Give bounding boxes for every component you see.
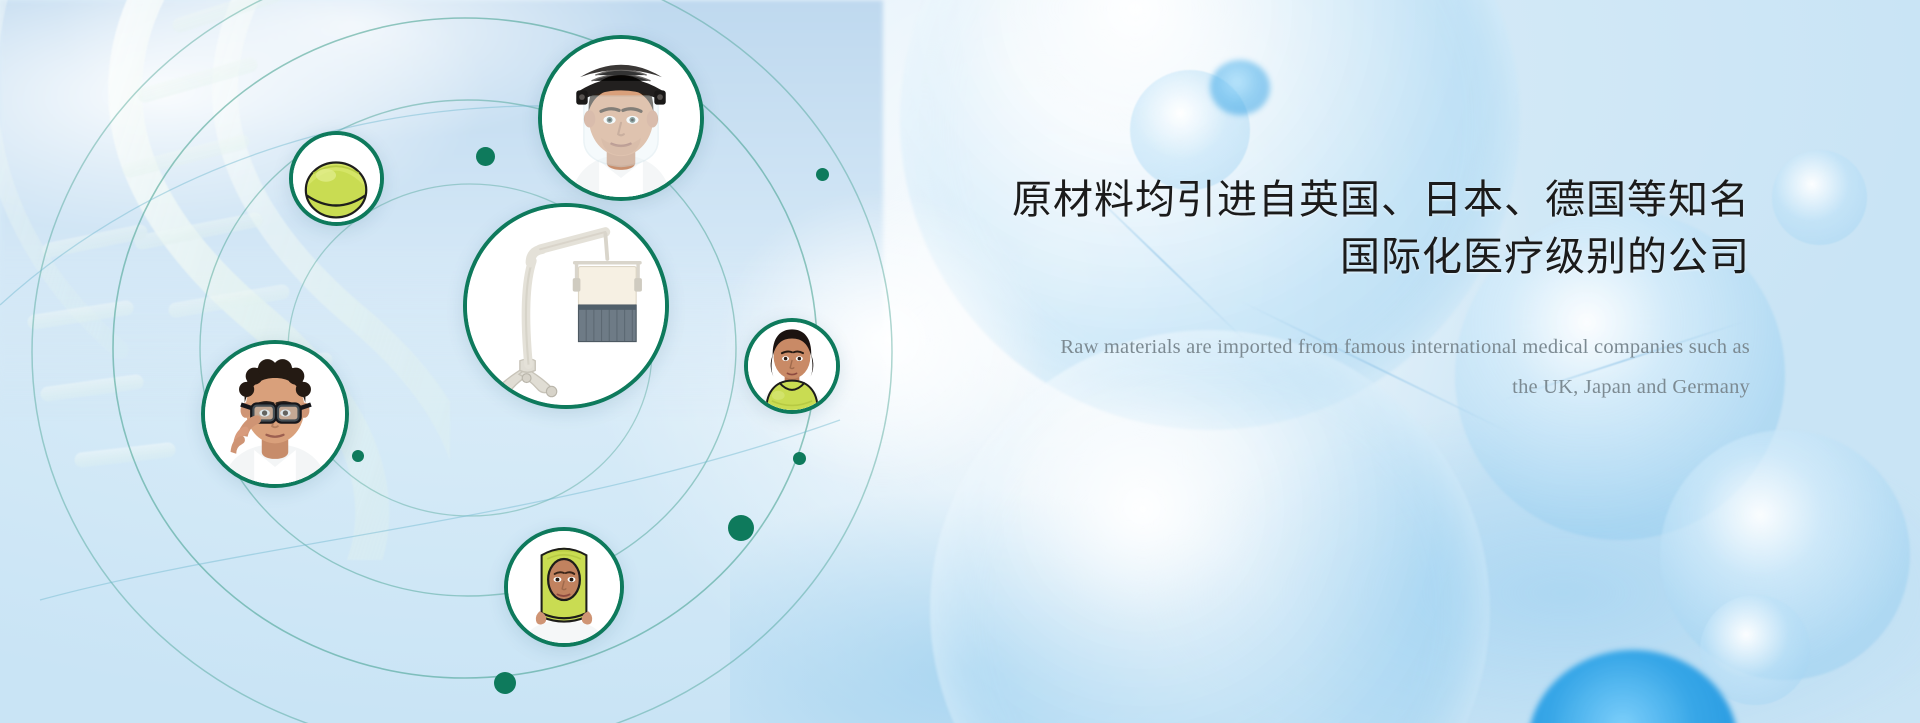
- mobile-shield-photo: [467, 207, 665, 405]
- page-title: 原材料均引进自英国、日本、德国等知名 国际化医疗级别的公司: [950, 172, 1750, 286]
- face-shield-photo: [542, 39, 700, 197]
- orbit-node-dot: [793, 452, 806, 465]
- bubble-lead-glasses[interactable]: [201, 340, 349, 488]
- thyroid-collar-photo: [748, 322, 836, 410]
- hero-subtitle: Raw materials are imported from famous i…: [950, 328, 1750, 408]
- orbit-node-dot: [816, 168, 829, 181]
- hero-banner: 原材料均引进自英国、日本、德国等知名 国际化医疗级别的公司 Raw materi…: [0, 0, 1920, 723]
- bubble-mobile-shield[interactable]: [463, 203, 669, 409]
- subtitle-line-2: the UK, Japan and Germany: [950, 368, 1750, 408]
- bubble-face-shield[interactable]: [538, 35, 704, 201]
- protective-cap-photo: [293, 135, 380, 222]
- orbit-node-dot: [352, 450, 364, 462]
- bubble-protective-cap[interactable]: [289, 131, 384, 226]
- subtitle-line-1: Raw materials are imported from famous i…: [950, 328, 1750, 368]
- protective-hood-photo: [508, 531, 620, 643]
- bubble-thyroid-collar[interactable]: [744, 318, 840, 414]
- orbit-node-dot: [476, 147, 495, 166]
- hero-copy: 原材料均引进自英国、日本、德国等知名 国际化医疗级别的公司 Raw materi…: [950, 172, 1750, 408]
- molecule-sphere-deep-blue: [1210, 60, 1270, 115]
- lead-glasses-photo: [205, 344, 345, 484]
- bubble-protective-hood[interactable]: [504, 527, 624, 647]
- headline-line-1: 原材料均引进自英国、日本、德国等知名: [1012, 178, 1750, 222]
- orbit-node-dot: [728, 515, 754, 541]
- orbit-node-dot: [494, 672, 516, 694]
- molecule-sphere-small: [1772, 150, 1867, 245]
- headline-line-2: 国际化医疗级别的公司: [950, 229, 1750, 286]
